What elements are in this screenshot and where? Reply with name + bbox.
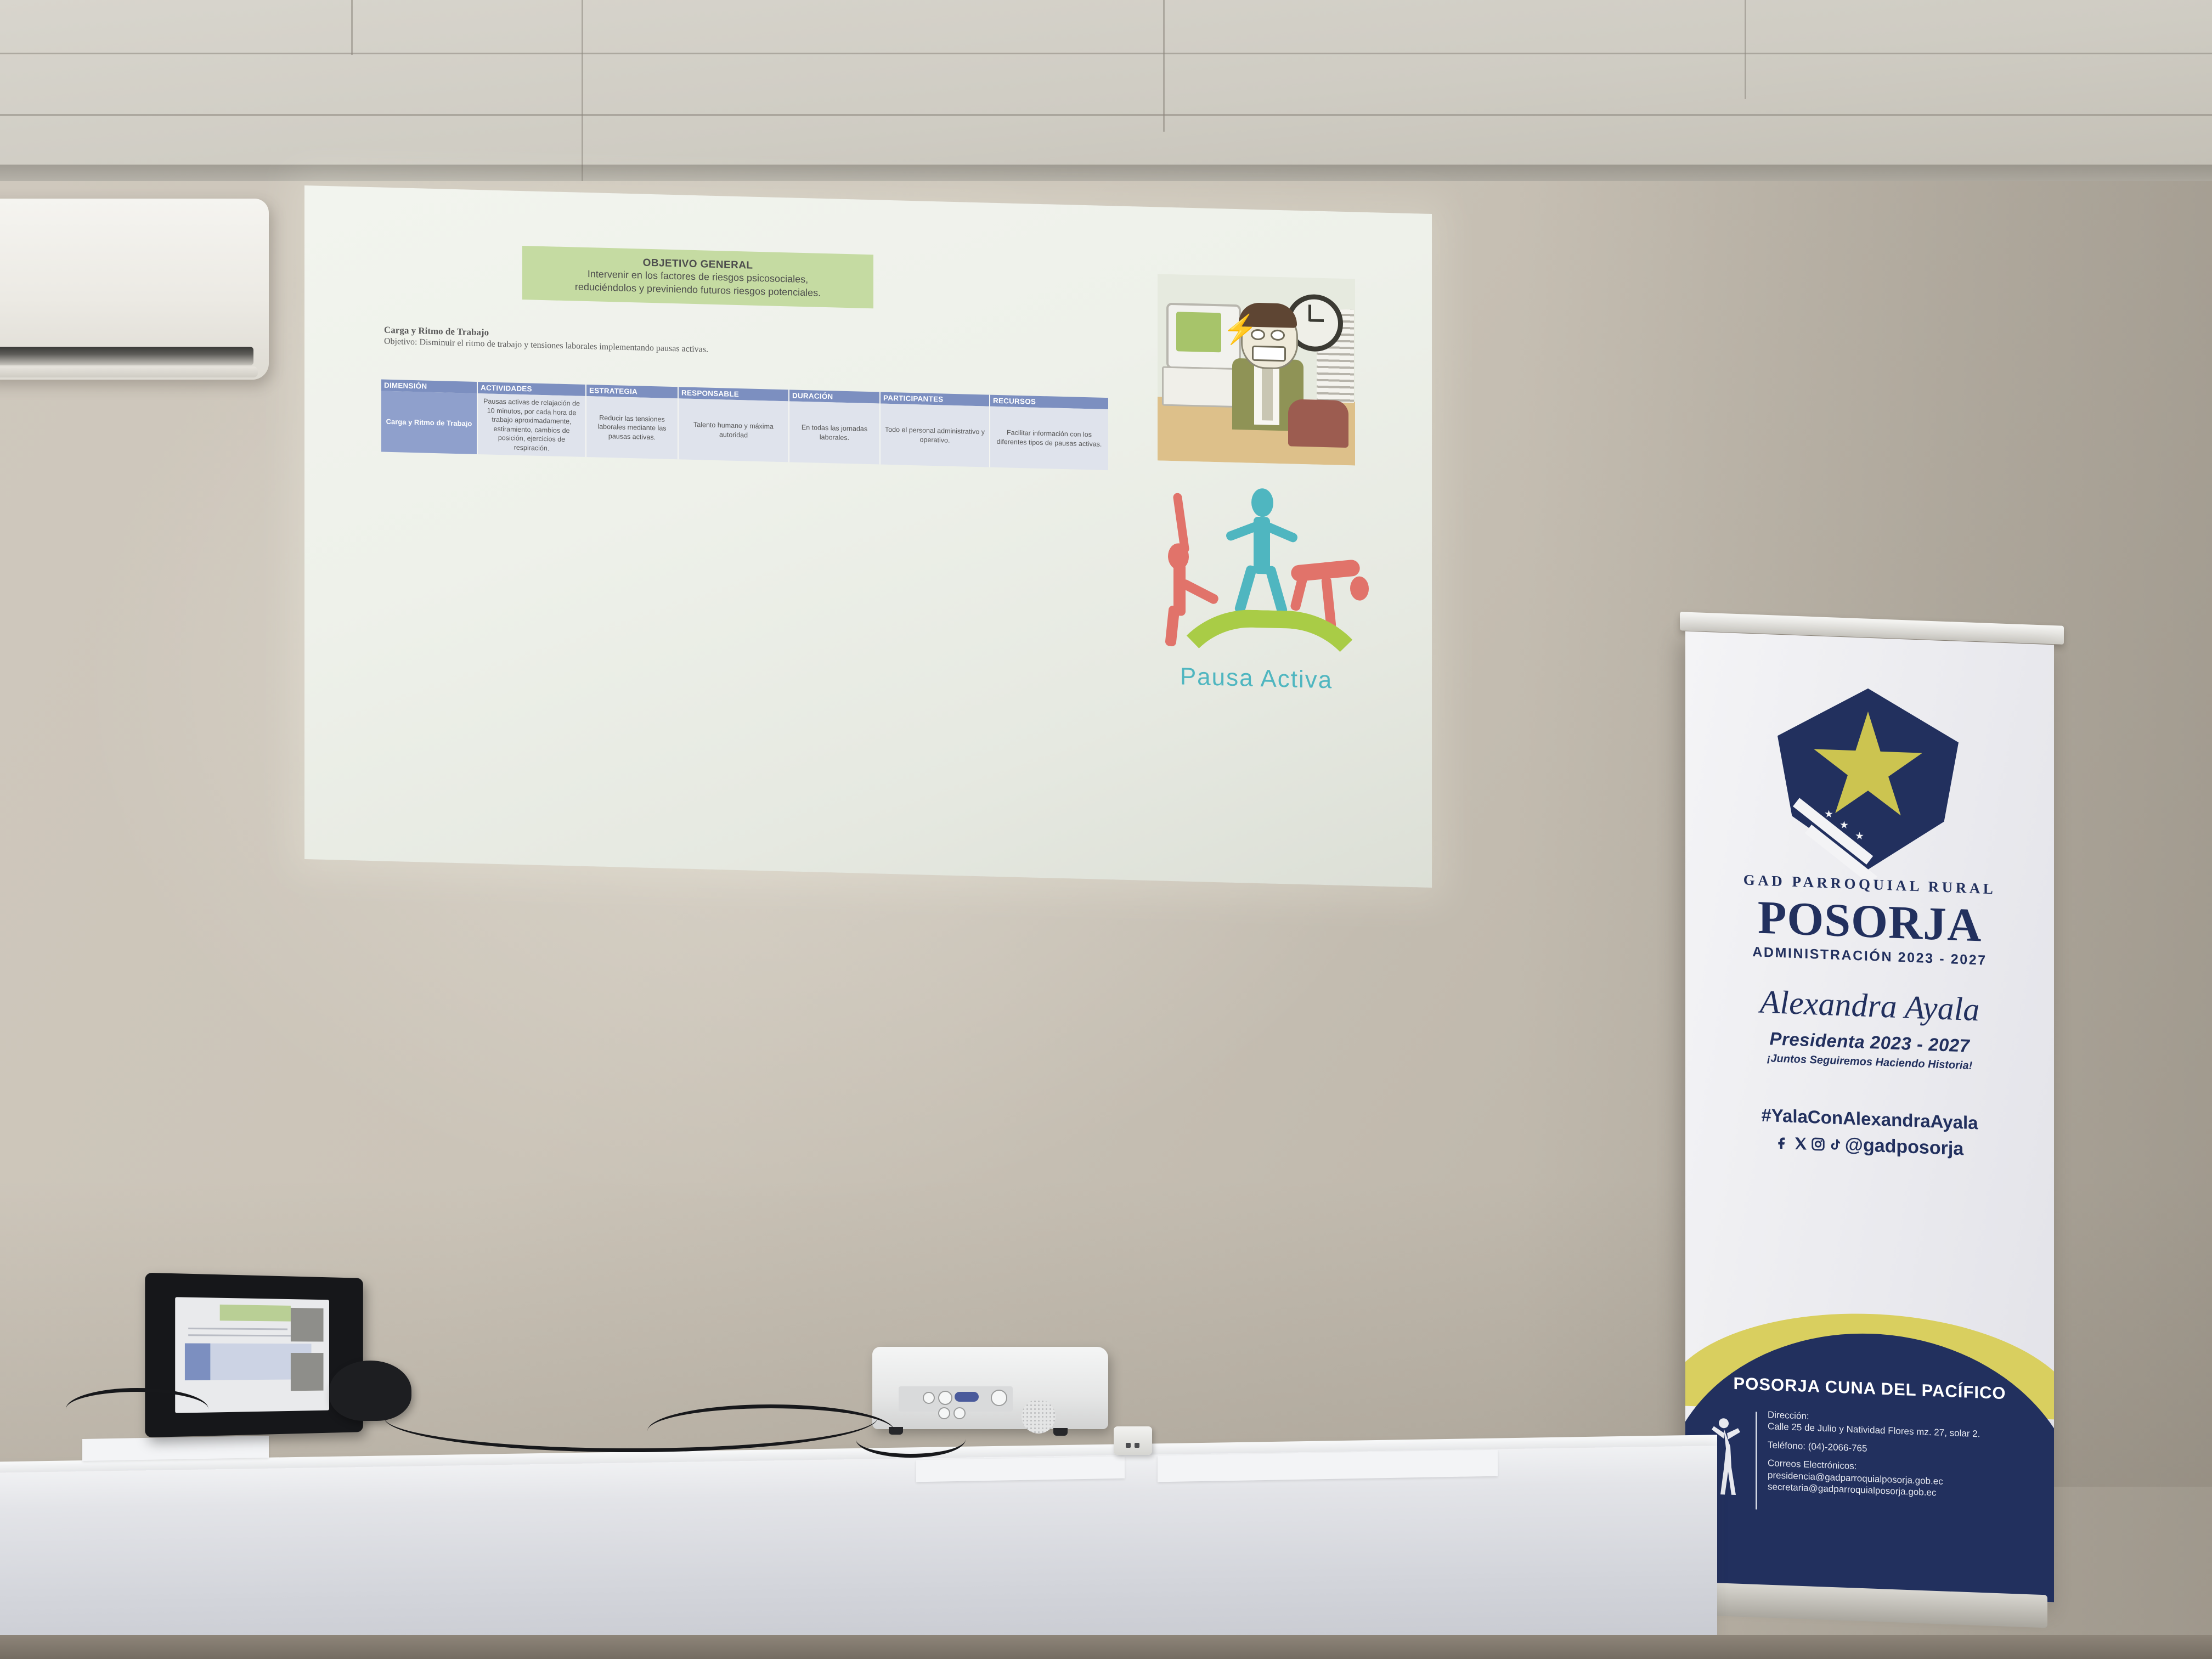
projector-remote[interactable] — [1114, 1426, 1152, 1455]
stressed-worker-clipart: ⚡ — [1158, 274, 1355, 465]
vga-cable — [647, 1404, 894, 1458]
instagram-icon[interactable] — [1811, 1136, 1825, 1153]
facebook-icon[interactable] — [1776, 1134, 1790, 1151]
pausa-activa-logo: Pausa Activa — [1138, 481, 1374, 706]
tiktok-icon[interactable] — [1829, 1136, 1842, 1153]
figure-left — [1155, 492, 1226, 636]
section-heading-block: Carga y Ritmo de Trabajo Objetivo: Dismi… — [384, 325, 1070, 364]
projector-body — [872, 1347, 1108, 1429]
projected-slide: OBJETIVO GENERAL Intervenir en los facto… — [304, 185, 1432, 888]
paper-sheet — [916, 1457, 1125, 1482]
ac-vent — [0, 347, 253, 365]
laptop-cable — [66, 1388, 208, 1430]
air-conditioner — [0, 199, 269, 380]
x-twitter-icon[interactable] — [1793, 1135, 1808, 1152]
meeting-room-photo: OBJETIVO GENERAL Intervenir en los facto… — [0, 0, 2212, 1659]
objective-box: OBJETIVO GENERAL Intervenir en los facto… — [522, 246, 873, 308]
posorja-shield-logo — [1778, 685, 1959, 873]
draped-table — [0, 1446, 1717, 1659]
cell-dimension: Carga y Ritmo de Trabajo — [381, 391, 477, 454]
phone-label: Teléfono: (04)-2066-765 — [1768, 1439, 2025, 1460]
floor — [0, 1635, 2212, 1659]
vga-port — [955, 1392, 979, 1402]
roll-up-banner: GAD PARROQUIAL RURAL POSORJA ADMINISTRAC… — [1685, 631, 2054, 1602]
cell-recursos: Facilitar información con los diferentes… — [990, 407, 1108, 470]
cell-duracion: En todas las jornadas laborales. — [789, 401, 880, 464]
cell-actividades: Pausas activas de relajación de 10 minut… — [477, 393, 586, 457]
ac-lip — [0, 366, 258, 377]
plan-table: DIMENSIÓN ACTIVIDADES ESTRATEGIA RESPONS… — [381, 380, 1108, 471]
banner-president-name: Alexandra Ayala — [1685, 980, 2054, 1032]
banner-contact-block: Dirección: Calle 25 de Julio y Natividad… — [1768, 1409, 2025, 1509]
cell-participantes: Todo el personal administrativo y operat… — [880, 404, 990, 467]
cell-responsable: Talento humano y máxima autoridad — [678, 398, 789, 462]
ceiling — [0, 0, 2212, 181]
projector-cable — [856, 1421, 966, 1458]
laptop-screen — [175, 1297, 329, 1413]
cell-estrategia: Reducir las tensiones laborales mediante… — [586, 396, 678, 459]
projector-speaker — [1022, 1400, 1056, 1434]
contact-divider — [1756, 1412, 1757, 1509]
banner-social-handle: @gadposorja — [1845, 1134, 1963, 1160]
